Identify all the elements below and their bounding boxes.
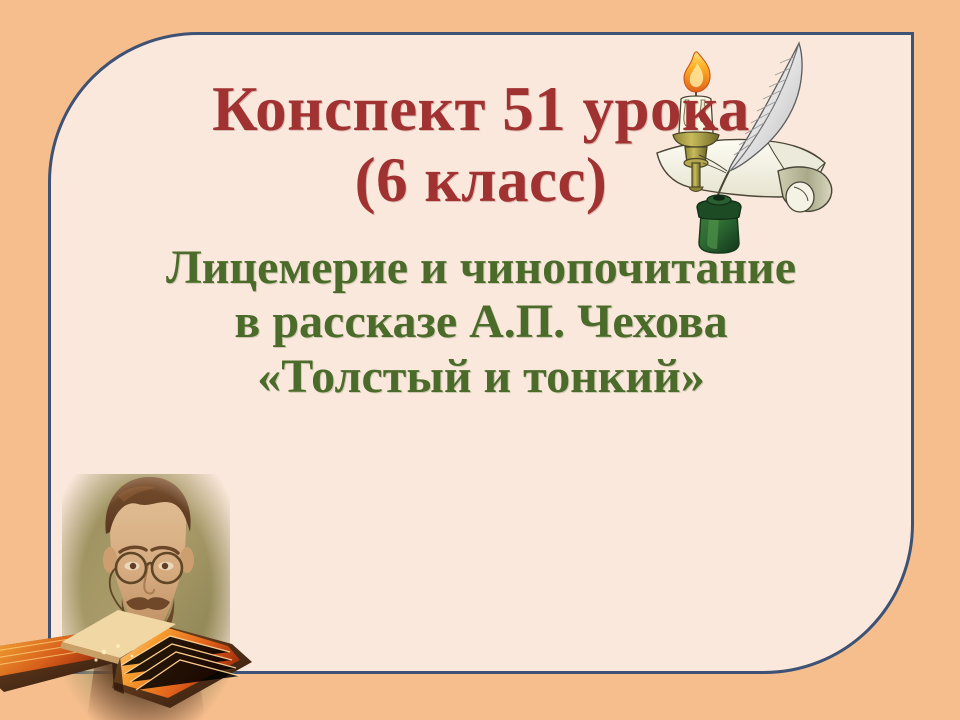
slide-canvas: Конспект 51 урока (6 класс) Лицемерие и … [0,0,960,720]
subtitle-line-3: «Толстый и тонкий» [51,350,911,405]
subtitle-line-2: в рассказе А.П. Чехова [51,295,911,350]
candle-quill-inkwell-scroll-illustration [639,37,849,267]
chekhov-portrait-and-book [0,456,350,720]
green-inkwell-icon [697,195,741,253]
